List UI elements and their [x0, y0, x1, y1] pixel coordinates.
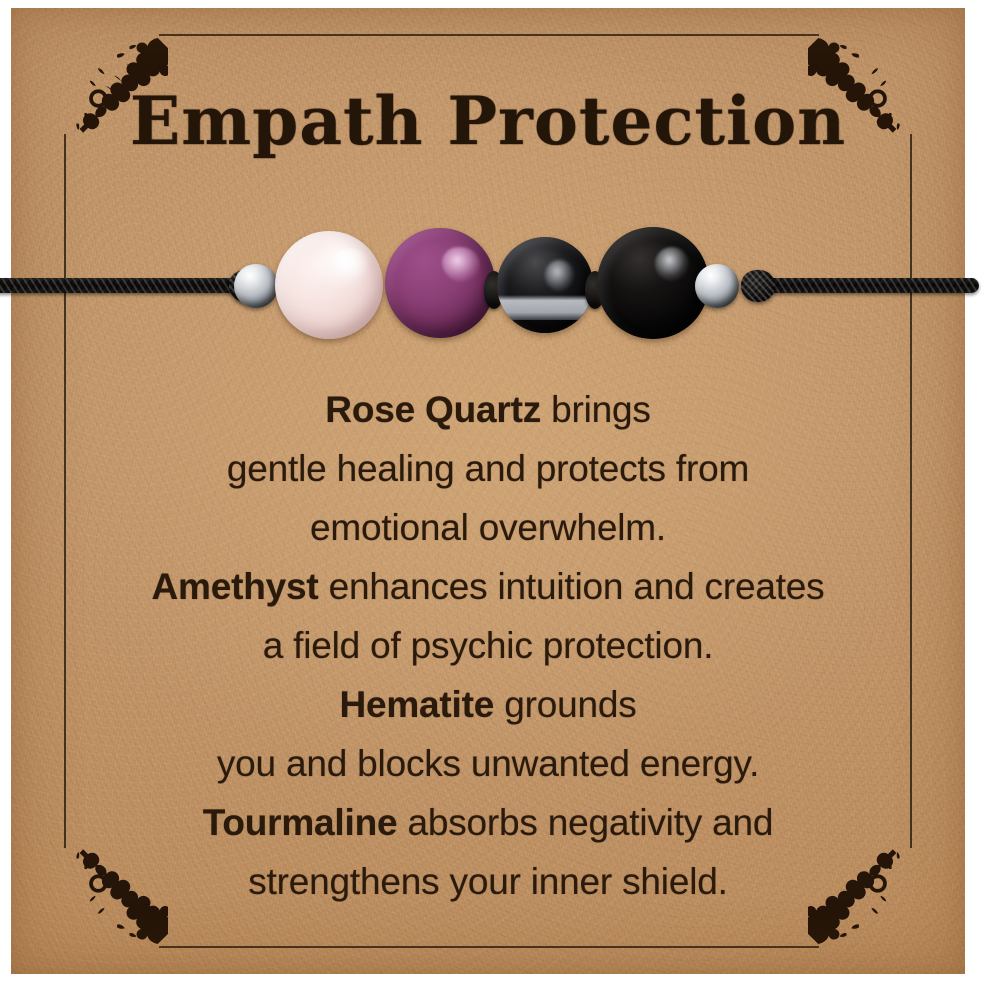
description-line: gentle healing and protects from: [91, 439, 885, 498]
description-line: you and blocks unwanted energy.: [91, 734, 885, 793]
bead-silver-spacer-right: [695, 264, 739, 308]
braided-cord-left: [0, 278, 257, 293]
product-description: Rose Quartz bringsgentle healing and pro…: [91, 380, 885, 911]
card-title: Empath Protection: [11, 82, 965, 160]
description-line: Hematite grounds: [91, 675, 885, 734]
braided-cord-right: [757, 278, 979, 293]
bead-highlight: [442, 247, 479, 282]
cord-knot-right: [741, 270, 775, 302]
description-text: a field of psychic protection.: [263, 625, 714, 666]
description-text: enhances intuition and creates: [319, 566, 825, 607]
bead-highlight: [655, 247, 689, 281]
description-line: Rose Quartz brings: [91, 380, 885, 439]
description-line: a field of psychic protection.: [91, 616, 885, 675]
description-line: Amethyst enhances intuition and creates: [91, 557, 885, 616]
border-rule-bottom: [159, 946, 819, 948]
kraft-paper-card: Empath Protection Rose Quartz bringsgent…: [11, 8, 965, 974]
description-text: you and blocks unwanted energy.: [217, 743, 759, 784]
bead-amethyst: [385, 228, 495, 338]
bead-rose-quartz: [275, 231, 383, 339]
bead-silver-spacer-left: [234, 264, 278, 308]
description-text: grounds: [494, 684, 636, 725]
product-card-image: Empath Protection Rose Quartz bringsgent…: [0, 0, 1000, 982]
description-text: absorbs negativity and: [397, 802, 773, 843]
description-text: strengthens your inner shield.: [248, 861, 727, 902]
bead-highlight: [331, 248, 370, 280]
description-line: strengthens your inner shield.: [91, 852, 885, 911]
description-text: gentle healing and protects from: [227, 448, 749, 489]
bead-tourmaline: [597, 227, 709, 339]
border-rule-top: [159, 34, 819, 36]
description-line: emotional overwhelm.: [91, 498, 885, 557]
gemstone-name: Rose Quartz: [325, 389, 541, 430]
bead-hematite: [497, 237, 593, 333]
bead-highlight: [545, 260, 574, 291]
description-text: brings: [541, 389, 651, 430]
gemstone-name: Tourmaline: [203, 802, 398, 843]
gemstone-name: Hematite: [339, 684, 494, 725]
description-text: emotional overwhelm.: [310, 507, 666, 548]
bracelet: [0, 225, 989, 355]
gemstone-name: Amethyst: [152, 566, 319, 607]
bead-reflection-band: [497, 295, 593, 320]
description-line: Tourmaline absorbs negativity and: [91, 793, 885, 852]
